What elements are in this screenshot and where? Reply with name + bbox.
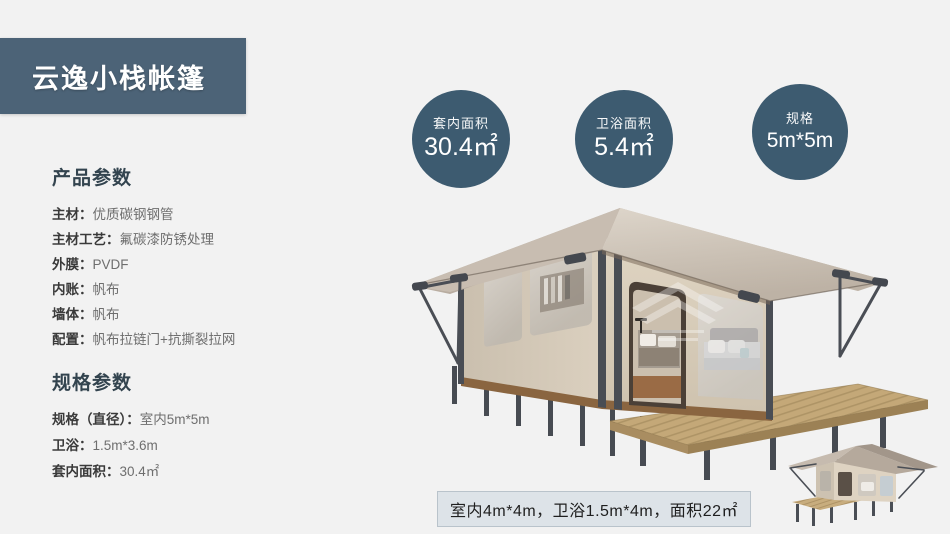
spec-row: 套内面积：30.4㎡ xyxy=(52,459,210,485)
spec-value: 帆布 xyxy=(93,307,120,322)
spec-label: 墙体： xyxy=(52,307,93,322)
tent-thumbnail-svg xyxy=(768,440,944,528)
spec-row: 墙体：帆布 xyxy=(52,302,235,327)
spec-label: 外膜： xyxy=(52,257,93,272)
spec-value: 帆布拉链门+抗撕裂拉网 xyxy=(93,332,236,347)
spec-label: 套内面积： xyxy=(52,464,120,479)
spec-label: 主材工艺： xyxy=(52,232,120,247)
badge-value: 5m*5m xyxy=(767,129,834,153)
spec-value: 30.4㎡ xyxy=(120,464,160,479)
spec-row: 内账：帆布 xyxy=(52,277,235,302)
spec-value: 优质碳钢钢管 xyxy=(93,207,174,222)
spec-label: 配置： xyxy=(52,332,93,347)
spec-row: 外膜：PVDF xyxy=(52,252,235,277)
badge-label: 套内面积 xyxy=(433,116,489,132)
spec-row: 配置：帆布拉链门+抗撕裂拉网 xyxy=(52,327,235,352)
spec-row: 卫浴：1.5m*3.6m xyxy=(52,433,210,459)
cabin-front-window xyxy=(698,294,763,400)
title-banner: 云逸小栈帐篷 xyxy=(0,38,246,114)
badge-label: 卫浴面积 xyxy=(596,116,652,132)
badge-value: 5.4㎡ xyxy=(594,133,654,162)
size-parameters-heading: 规格参数 xyxy=(52,368,210,395)
spec-label: 卫浴： xyxy=(52,438,93,453)
size-parameters-section: 规格参数 规格（直径）：室内5m*5m 卫浴：1.5m*3.6m 套内面积：30… xyxy=(52,368,210,485)
caption-box: 室内4m*4m，卫浴1.5m*4m，面积22㎡ xyxy=(437,491,751,527)
spec-label: 内账： xyxy=(52,282,93,297)
spec-label: 主材： xyxy=(52,207,93,222)
spec-value: 帆布 xyxy=(93,282,120,297)
product-parameters-heading: 产品参数 xyxy=(52,163,235,190)
badge-label: 规格 xyxy=(786,111,814,127)
tent-thumbnail xyxy=(768,440,944,528)
spec-row: 主材工艺：氟碳漆防锈处理 xyxy=(52,227,235,252)
poster-page: 云逸小栈帐篷 产品参数 主材：优质碳钢钢管 主材工艺：氟碳漆防锈处理 外膜：PV… xyxy=(0,0,950,534)
spec-label: 规格（直径）： xyxy=(52,412,140,427)
spec-value: 氟碳漆防锈处理 xyxy=(120,232,215,247)
page-title: 云逸小栈帐篷 xyxy=(32,57,206,96)
spec-row: 主材：优质碳钢钢管 xyxy=(52,202,235,227)
caption-text: 室内4m*4m，卫浴1.5m*4m，面积22㎡ xyxy=(450,497,738,521)
badge-bathroom-area: 卫浴面积 5.4㎡ xyxy=(575,90,673,188)
spec-value: PVDF xyxy=(93,257,129,272)
badge-interior-area: 套内面积 30.4㎡ xyxy=(412,90,510,188)
spec-row: 规格（直径）：室内5m*5m xyxy=(52,407,210,433)
badge-dimensions: 规格 5m*5m xyxy=(752,84,848,180)
spec-value: 1.5m*3.6m xyxy=(93,438,158,453)
badge-value: 30.4㎡ xyxy=(424,133,498,162)
product-parameters-section: 产品参数 主材：优质碳钢钢管 主材工艺：氟碳漆防锈处理 外膜：PVDF 内账：帆… xyxy=(52,163,235,352)
spec-value: 室内5m*5m xyxy=(140,412,210,427)
